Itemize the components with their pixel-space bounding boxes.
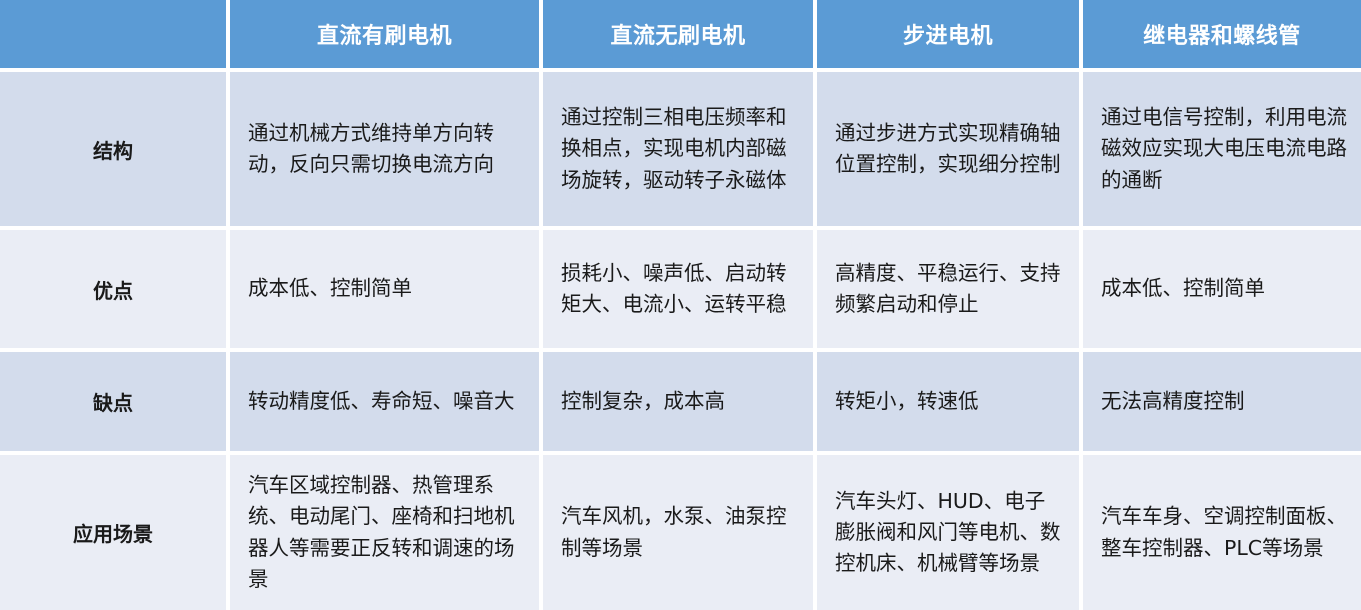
row-label-applications: 应用场景 (0, 455, 230, 610)
cell-structure-dc-brushless: 通过控制三相电压频率和换相点，实现电机内部磁场旋转，驱动转子永磁体 (543, 72, 817, 230)
cell-applications-dc-brushed: 汽车区域控制器、热管理系统、电动尾门、座椅和扫地机器人等需要正反转和调速的场景 (230, 455, 543, 610)
cell-applications-relay: 汽车车身、空调控制面板、整车控制器、PLC等场景 (1083, 455, 1361, 610)
table-row-applications: 应用场景 汽车区域控制器、热管理系统、电动尾门、座椅和扫地机器人等需要正反转和调… (0, 455, 1361, 610)
header-row: 直流有刷电机 直流无刷电机 步进电机 继电器和螺线管 (0, 0, 1361, 72)
cell-advantages-stepper: 高精度、平稳运行、支持频繁启动和停止 (817, 230, 1083, 352)
table-body: 结构 通过机械方式维持单方向转动，反向只需切换电流方向 通过控制三相电压频率和换… (0, 72, 1361, 610)
cell-structure-dc-brushed: 通过机械方式维持单方向转动，反向只需切换电流方向 (230, 72, 543, 230)
cell-advantages-relay: 成本低、控制简单 (1083, 230, 1361, 352)
table-row-structure: 结构 通过机械方式维持单方向转动，反向只需切换电流方向 通过控制三相电压频率和换… (0, 72, 1361, 230)
cell-applications-dc-brushless: 汽车风机，水泵、油泵控制等场景 (543, 455, 817, 610)
column-header-dc-brushless-motor: 直流无刷电机 (543, 0, 817, 72)
cell-structure-relay: 通过电信号控制，利用电流磁效应实现大电压电流电路的通断 (1083, 72, 1361, 230)
cell-advantages-dc-brushless: 损耗小、噪声低、启动转矩大、电流小、运转平稳 (543, 230, 817, 352)
motor-comparison-table: 直流有刷电机 直流无刷电机 步进电机 继电器和螺线管 结构 通过机械方式维持单方… (0, 0, 1361, 610)
cell-advantages-dc-brushed: 成本低、控制简单 (230, 230, 543, 352)
header-corner-cell (0, 0, 230, 72)
column-header-stepper-motor: 步进电机 (817, 0, 1083, 72)
cell-disadvantages-dc-brushed: 转动精度低、寿命短、噪音大 (230, 352, 543, 455)
table-row-disadvantages: 缺点 转动精度低、寿命短、噪音大 控制复杂，成本高 转矩小，转速低 无法高精度控… (0, 352, 1361, 455)
cell-applications-stepper: 汽车头灯、HUD、电子膨胀阀和风门等电机、数控机床、机械臂等场景 (817, 455, 1083, 610)
table-header: 直流有刷电机 直流无刷电机 步进电机 继电器和螺线管 (0, 0, 1361, 72)
cell-structure-stepper: 通过步进方式实现精确轴位置控制，实现细分控制 (817, 72, 1083, 230)
cell-disadvantages-dc-brushless: 控制复杂，成本高 (543, 352, 817, 455)
row-label-disadvantages: 缺点 (0, 352, 230, 455)
column-header-relay-solenoid: 继电器和螺线管 (1083, 0, 1361, 72)
row-label-advantages: 优点 (0, 230, 230, 352)
cell-disadvantages-stepper: 转矩小，转速低 (817, 352, 1083, 455)
row-label-structure: 结构 (0, 72, 230, 230)
column-header-dc-brushed-motor: 直流有刷电机 (230, 0, 543, 72)
table-row-advantages: 优点 成本低、控制简单 损耗小、噪声低、启动转矩大、电流小、运转平稳 高精度、平… (0, 230, 1361, 352)
cell-disadvantages-relay: 无法高精度控制 (1083, 352, 1361, 455)
